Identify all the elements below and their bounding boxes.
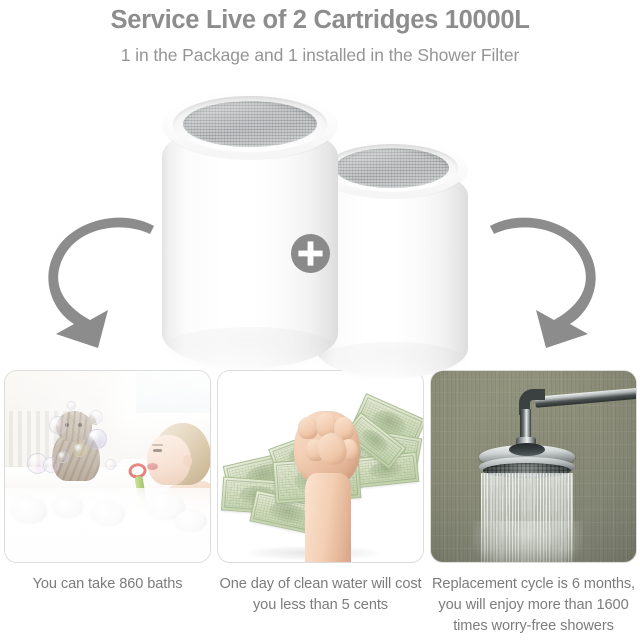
window-light bbox=[136, 370, 211, 413]
hand-gripping-money bbox=[292, 411, 370, 563]
panel-caption: You can take 860 baths bbox=[4, 574, 211, 595]
girl-eyebrow bbox=[152, 444, 163, 446]
cartridge-in-package bbox=[162, 89, 338, 369]
page-subtitle: 1 in the Package and 1 installed in the … bbox=[0, 44, 640, 66]
curved-arrow-down-right-icon bbox=[486, 216, 598, 348]
foam-blob bbox=[91, 502, 125, 526]
plus-icon bbox=[291, 234, 330, 273]
foam-blob bbox=[175, 510, 207, 532]
foam-blob bbox=[53, 496, 83, 518]
infographic-page: Service Live of 2 Cartridges 10000L 1 in… bbox=[0, 0, 640, 640]
shower-scene bbox=[431, 371, 636, 562]
cat-eye-right bbox=[78, 423, 82, 427]
soap-bubble bbox=[105, 459, 116, 470]
header: Service Live of 2 Cartridges 10000L 1 in… bbox=[0, 0, 640, 76]
cartridge-mesh-gloss bbox=[183, 101, 317, 147]
money-scene bbox=[218, 371, 423, 562]
panel-cost: One day of clean water will cost you les… bbox=[217, 370, 424, 616]
rain-shower-head-running-water-photo bbox=[430, 370, 637, 563]
page-title: Service Live of 2 Cartridges 10000L bbox=[0, 5, 640, 35]
cartridge-installed bbox=[316, 138, 468, 378]
foam-blob bbox=[11, 498, 47, 524]
cartridge-mesh-screen bbox=[183, 101, 317, 147]
girl-lips bbox=[147, 463, 158, 470]
hand-wrist bbox=[305, 473, 351, 563]
cartridge-mesh-gloss bbox=[335, 148, 449, 188]
cartridge-base-shadow bbox=[316, 342, 468, 380]
fist-holding-dollar-bills-photo bbox=[217, 370, 424, 563]
woman-in-bubble-bath-with-cat-photo bbox=[4, 370, 211, 563]
soap-bubble bbox=[87, 429, 107, 449]
panel-caption: Replacement cycle is 6 months, you will … bbox=[422, 574, 640, 637]
curved-arrow-down-left-icon bbox=[46, 216, 158, 348]
bath-scene bbox=[5, 371, 210, 562]
hero-product-illustration bbox=[0, 76, 640, 368]
panel-replacement: Replacement cycle is 6 months, you will … bbox=[430, 370, 637, 637]
benefit-panels: You can take 860 baths bbox=[0, 370, 640, 640]
girl-eye bbox=[153, 449, 162, 452]
soap-bubble bbox=[57, 451, 69, 463]
soap-bubble bbox=[73, 443, 87, 457]
panel-caption: One day of clean water will cost you les… bbox=[217, 574, 424, 616]
soap-bubble bbox=[89, 410, 103, 424]
knuckle bbox=[298, 417, 318, 439]
soap-bubble bbox=[67, 401, 76, 410]
soap-bubble bbox=[49, 416, 67, 434]
panel-baths: You can take 860 baths bbox=[4, 370, 211, 595]
shower-head-cap bbox=[509, 443, 545, 456]
girl-ear bbox=[183, 455, 192, 467]
water-mist bbox=[473, 521, 583, 563]
cartridge-mesh-screen bbox=[335, 148, 449, 188]
cartridge-base-shadow bbox=[162, 327, 338, 371]
